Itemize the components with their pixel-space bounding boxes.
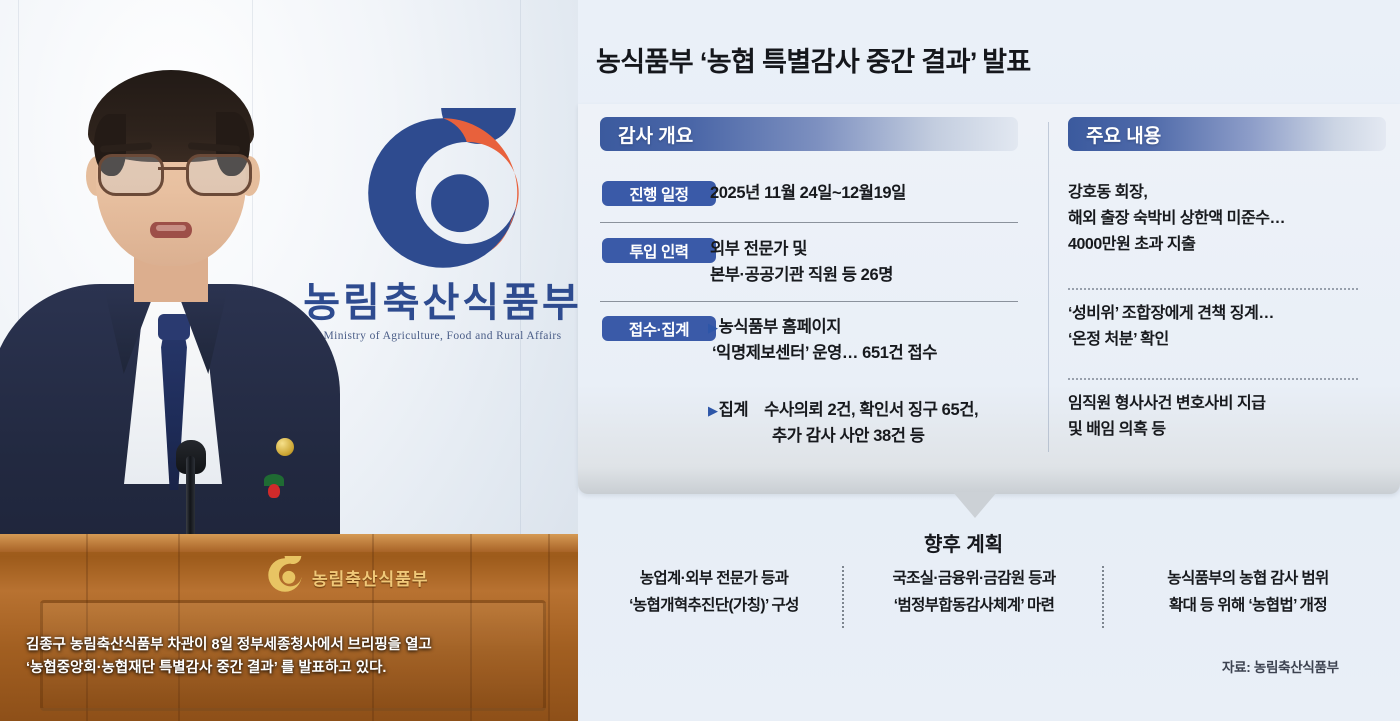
row-divider-2 xyxy=(600,301,1018,302)
bullet-triangle-icon: ▶ xyxy=(708,403,718,418)
key-item-1-line2: 해외 출장 숙박비 상한액 미준수… xyxy=(1068,206,1285,232)
right-panel-header: 주요 내용 xyxy=(1068,117,1386,151)
red-ribbon-pin-icon xyxy=(264,474,284,500)
source-note: 자료: 농림축산식품부 xyxy=(1222,656,1339,676)
podium-emblem-icon xyxy=(266,556,304,594)
main-content-card xyxy=(578,104,1400,494)
plan-divider-1 xyxy=(842,566,844,628)
speaker-figure xyxy=(0,70,330,590)
intake-bullet-2-head: 집계 xyxy=(719,401,749,419)
plan-column-2: 국조실·금융위·금감원 등과 ‘범정부합동감사체계’ 마련 xyxy=(848,566,1100,619)
key-item-2-line2: ‘온정 처분’ 확인 xyxy=(1068,327,1274,353)
plan-title: 향후 계획 xyxy=(924,528,1003,557)
plan-column-1-line1: 농업계·외부 전문가 등과 xyxy=(588,566,840,593)
ministry-logo: 농림축산식품부 Ministry of Agriculture, Food an… xyxy=(300,108,578,342)
card-down-arrow-icon xyxy=(953,492,997,518)
plan-column-3-line2: 확대 등 위해 ‘농협법’ 개정 xyxy=(1108,593,1388,620)
key-item-1-line3: 4000만원 초과 지출 xyxy=(1068,232,1285,258)
eyeglasses-icon xyxy=(96,154,248,194)
photo-caption-line2: ‘농협중앙회·농협재단 특별감사 중간 결과’ 를 발표하고 있다. xyxy=(26,657,546,680)
chip-personnel-label: 투입 인력 xyxy=(629,240,688,262)
key-divider-1 xyxy=(1068,288,1358,290)
key-item-3-line2: 및 배임 의혹 등 xyxy=(1068,417,1266,443)
intake-bullet-2-line: ▶집계수사의뢰 2건, 확인서 징구 65건, xyxy=(708,397,978,423)
lens-left xyxy=(98,154,164,196)
right-panel-header-label: 주요 내용 xyxy=(1086,121,1161,148)
photo-caption-line1: 김종구 농림축산식품부 차관이 8일 정부세종청사에서 브리핑을 열고 xyxy=(26,634,546,657)
key-item-3: 임직원 형사사건 변호사비 지급 및 배임 의혹 등 xyxy=(1068,391,1266,443)
plan-column-1: 농업계·외부 전문가 등과 ‘농협개혁추진단(가칭)’ 구성 xyxy=(588,566,840,619)
infographic-root: 농림축산식품부 Ministry of Agriculture, Food an… xyxy=(0,0,1400,721)
intake-block-2: ▶집계수사의뢰 2건, 확인서 징구 65건, 추가 감사 사안 38건 등 xyxy=(708,397,978,449)
plan-column-3-line1: 농식품부의 농협 감사 범위 xyxy=(1108,566,1388,593)
left-panel-header: 감사 개요 xyxy=(600,117,1018,151)
glasses-bridge xyxy=(158,167,186,170)
key-divider-2 xyxy=(1068,378,1358,380)
personnel-value: 외부 전문가 및 본부·공공기관 직원 등 26명 xyxy=(710,236,893,288)
panel-divider xyxy=(1048,122,1049,452)
key-item-3-line1: 임직원 형사사건 변호사비 지급 xyxy=(1068,391,1266,417)
schedule-value: 2025년 11월 24일~12월19일 xyxy=(710,180,906,206)
left-panel-header-label: 감사 개요 xyxy=(618,121,693,148)
plan-column-3: 농식품부의 농협 감사 범위 확대 등 위해 ‘농협법’ 개정 xyxy=(1108,566,1388,619)
mouth xyxy=(150,222,192,238)
key-item-1: 강호동 회장, 해외 출장 숙박비 상한액 미준수… 4000만원 초과 지출 xyxy=(1068,180,1285,258)
key-item-1-line1: 강호동 회장, xyxy=(1068,180,1285,206)
necktie-knot xyxy=(158,314,190,340)
chip-personnel: 투입 인력 xyxy=(602,238,716,263)
ministry-logo-en: Ministry of Agriculture, Food and Rural … xyxy=(300,330,578,342)
plan-divider-2 xyxy=(1102,566,1104,628)
intake-bullet-1-cont: ‘익명제보센터’ 운영… 651건 접수 xyxy=(712,340,937,366)
photo-caption: 김종구 농림축산식품부 차관이 8일 정부세종청사에서 브리핑을 열고 ‘농협중… xyxy=(26,634,546,681)
key-item-2-line1: ‘성비위’ 조합장에게 견책 징계… xyxy=(1068,301,1274,327)
chip-intake: 접수·집계 xyxy=(602,316,716,341)
plan-column-2-line2: ‘범정부합동감사체계’ 마련 xyxy=(848,593,1100,620)
gold-lapel-badge-icon xyxy=(276,438,294,456)
key-item-2: ‘성비위’ 조합장에게 견책 징계… ‘온정 처분’ 확인 xyxy=(1068,301,1274,353)
intake-bullet-1-head: 농식품부 홈페이지 xyxy=(719,318,841,336)
ministry-logo-kr: 농림축산식품부 xyxy=(300,282,578,324)
plan-column-1-line2: ‘농협개혁추진단(가칭)’ 구성 xyxy=(588,593,840,620)
intake-block-1: ▶농식품부 홈페이지 ‘익명제보센터’ 운영… 651건 접수 xyxy=(708,314,937,366)
intake-bullet-1-line: ▶농식품부 홈페이지 xyxy=(708,314,937,340)
row-divider-1 xyxy=(600,222,1018,223)
chip-intake-label: 접수·집계 xyxy=(629,318,689,340)
intake-bullet-2-rest: 수사의뢰 2건, 확인서 징구 65건, xyxy=(764,401,978,419)
page-title: 농식품부 ‘농협 특별감사 중간 결과’ 발표 xyxy=(596,40,1031,79)
chip-schedule: 진행 일정 xyxy=(602,181,716,206)
personnel-line2: 본부·공공기관 직원 등 26명 xyxy=(710,262,893,288)
chip-schedule-label: 진행 일정 xyxy=(629,183,688,205)
lens-right xyxy=(186,154,252,196)
plan-column-2-line1: 국조실·금융위·금감원 등과 xyxy=(848,566,1100,593)
briefing-photo: 농림축산식품부 Ministry of Agriculture, Food an… xyxy=(0,0,578,721)
podium-label: 농림축산식품부 xyxy=(312,565,428,590)
personnel-line1: 외부 전문가 및 xyxy=(710,236,893,262)
taegeuk-swirl-icon xyxy=(358,108,528,278)
bullet-triangle-icon: ▶ xyxy=(708,320,718,335)
intake-bullet-2-cont: 추가 감사 사안 38건 등 xyxy=(772,423,978,449)
